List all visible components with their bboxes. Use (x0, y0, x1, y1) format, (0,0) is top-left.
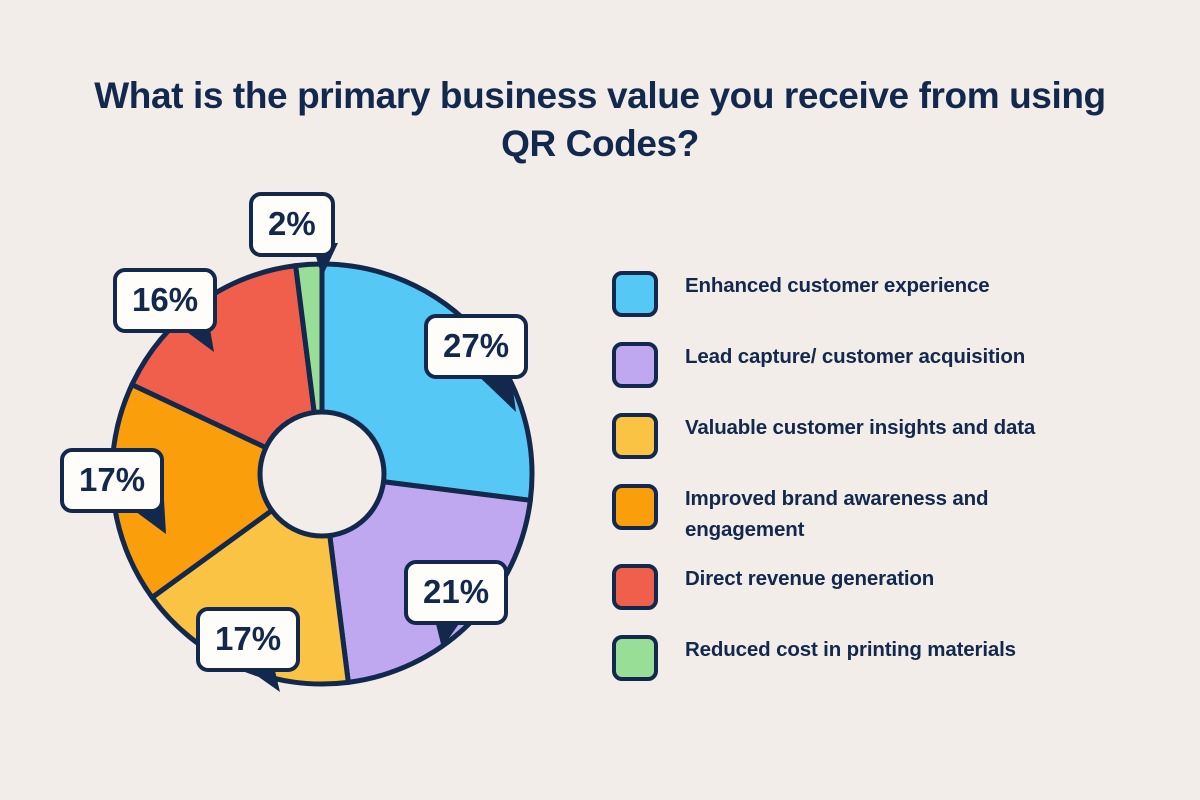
slice-callout-valuable-insights: 17% (196, 607, 300, 672)
legend-swatch-icon (612, 484, 658, 530)
legend-item-label: Reduced cost in printing materials (685, 634, 1016, 665)
donut-chart (0, 0, 700, 800)
legend-item-label: Direct revenue generation (685, 563, 934, 594)
legend-swatch-icon (612, 342, 658, 388)
legend-item[interactable]: Direct revenue generation (612, 563, 1152, 610)
chart-legend: Enhanced customer experienceLead capture… (612, 270, 1152, 705)
legend-item-label: Enhanced customer experience (685, 270, 990, 301)
legend-swatch-icon (612, 413, 658, 459)
legend-swatch-icon (612, 564, 658, 610)
legend-item-label: Improved brand awareness and engagement (685, 483, 1105, 545)
legend-item[interactable]: Valuable customer insights and data (612, 412, 1152, 459)
slice-callout-enhanced-customer-experience: 27% (424, 314, 528, 379)
legend-item[interactable]: Improved brand awareness and engagement (612, 483, 1152, 545)
legend-item[interactable]: Reduced cost in printing materials (612, 634, 1152, 681)
legend-swatch-icon (612, 635, 658, 681)
donut-chart-svg (0, 0, 700, 800)
legend-item[interactable]: Lead capture/ customer acquisition (612, 341, 1152, 388)
slice-callout-reduced-printing-cost: 2% (249, 192, 335, 257)
slice-callout-direct-revenue: 16% (113, 268, 217, 333)
legend-swatch-icon (612, 271, 658, 317)
legend-item-label: Valuable customer insights and data (685, 412, 1035, 443)
chart-canvas: What is the primary business value you r… (0, 0, 1200, 800)
legend-item[interactable]: Enhanced customer experience (612, 270, 1152, 317)
legend-item-label: Lead capture/ customer acquisition (685, 341, 1025, 372)
slice-callout-improved-brand-awareness: 17% (60, 448, 164, 513)
slice-callout-lead-capture: 21% (404, 560, 508, 625)
donut-hole (260, 412, 384, 536)
